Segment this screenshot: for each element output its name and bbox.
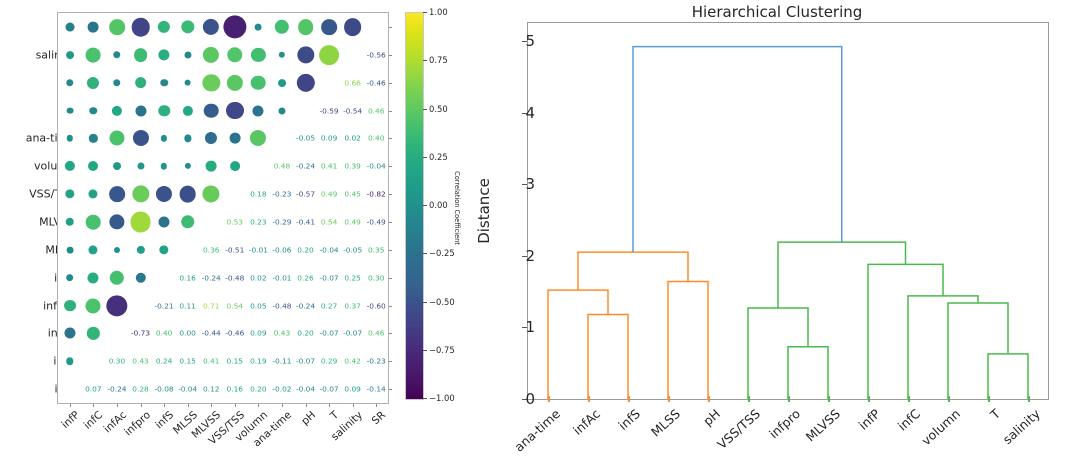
correlation-value-label: -0.14 [367,385,386,394]
correlation-value-label: -0.46 [367,78,386,87]
x-axis-tick [353,404,354,407]
correlation-value-label: -0.06 [272,245,291,254]
colorbar-tick [423,253,427,254]
x-axis-tick [329,404,330,407]
x-axis-tick-label: infpro [122,409,153,438]
x-axis-tick [211,404,212,407]
correlation-value-label: 0.19 [250,357,266,366]
x-axis-tick [164,404,165,407]
y-axis-tick [389,306,392,307]
correlation-bubble [66,79,73,86]
correlation-bubble [203,186,220,203]
correlation-bubble [203,74,220,91]
colorbar-tick-label: 0.50 [429,104,448,114]
correlation-value-label: -0.07 [343,329,362,338]
correlation-bubble [156,186,172,202]
dendrogram-leaf-tick [1028,396,1030,402]
correlation-value-label: 0.05 [250,301,266,310]
correlation-value-label: -0.24 [296,162,315,171]
correlation-value-label: 0.02 [344,134,360,143]
correlation-bubble [66,246,73,253]
correlation-value-label: -0.02 [272,385,291,394]
correlation-value-label: -0.48 [225,273,244,282]
dendrogram-leaf-label: salinity [1000,406,1043,447]
dendrogram-y-tick-label: 1 [525,318,535,336]
y-axis-tick [389,278,392,279]
correlation-value-label: 0.53 [227,217,243,226]
colorbar-tick-label: −1.00 [429,393,455,403]
dendrogram-leaf-tick [828,396,830,402]
x-axis-tick [70,404,71,407]
correlation-value-label: 0.36 [203,245,219,254]
dendrogram-link [748,308,808,399]
correlation-bubble [229,133,240,144]
correlation-bubble [181,20,194,33]
x-axis-tick-label: T [328,409,341,422]
dendrogram-leaf-tick [988,396,990,402]
y-axis-tick [389,166,392,167]
dendrogram-leaf-tick [868,396,870,402]
correlation-bubble [250,130,266,146]
correlation-value-label: -0.07 [320,385,339,394]
dendrogram-y-tick-label: 4 [525,104,535,122]
correlation-value-label: -0.01 [249,245,268,254]
dendrogram-link [668,282,708,399]
dendrogram-y-tick-label: 2 [525,247,535,265]
correlation-bubble [298,19,314,35]
correlation-value-label: 0.66 [344,78,360,87]
x-axis-tick [258,404,259,407]
correlation-value-label: 0.42 [344,357,360,366]
correlation-bubble [184,135,191,142]
y-axis-tick [389,250,392,251]
correlation-bubble [66,357,73,364]
correlation-bubble [183,105,193,115]
correlation-bubble [66,218,75,227]
dendrogram-panel: Hierarchical Clustering Distance 012345a… [470,0,1080,461]
correlation-bubble [255,24,262,31]
correlation-value-label: 0.49 [344,217,360,226]
correlation-value-label: 0.15 [179,357,195,366]
correlation-bubble [64,300,76,312]
correlation-value-label: 0.30 [368,273,384,282]
correlation-bubble [88,161,98,171]
correlation-bubble [227,47,242,62]
correlation-bubble [65,189,74,198]
correlation-bubble [137,163,144,170]
correlation-plot-area: -0.560.66-0.46-0.59-0.540.46-0.050.090.0… [58,13,388,403]
correlation-value-label: -0.29 [272,217,291,226]
correlation-bubble [275,20,289,34]
correlation-bubble [158,21,170,33]
x-axis-tick [117,404,118,407]
dendrogram-leaf-label: infP [856,406,883,433]
dendrogram-leaf-tick [908,396,910,402]
dendrogram-links [528,23,1048,399]
x-axis-tick [376,404,377,407]
correlation-bubble [87,327,99,339]
dendrogram-leaf-tick [948,396,950,402]
x-axis-tick-label: infP [59,409,82,431]
correlation-bubble [319,45,339,65]
correlation-bubble [132,185,149,202]
dendrogram-leaf-tick [708,396,710,402]
correlation-value-label: 0.00 [179,329,195,338]
dendrogram-link [633,47,842,253]
correlation-value-label: -0.59 [320,106,339,115]
correlation-bubble [136,246,144,254]
correlation-bubble [159,216,170,227]
correlation-value-label: 0.16 [227,385,243,394]
colorbar-tick-label: −0.25 [429,248,455,258]
correlation-value-label: -0.07 [320,329,339,338]
correlation-value-label: -0.24 [202,273,221,282]
correlation-value-label: 0.54 [227,301,243,310]
correlation-bubble [87,77,99,89]
correlation-bubble [184,51,191,58]
correlation-bubble [205,132,217,144]
colorbar-tick-label: 0.75 [429,55,448,65]
y-axis-tick [389,27,392,28]
dendrogram-leaf-label: T [987,406,1003,422]
correlation-bubble [278,107,285,114]
correlation-bubble [67,135,73,141]
y-axis-tick [389,194,392,195]
y-axis-tick [389,361,392,362]
correlation-value-label: -0.49 [367,217,386,226]
dendrogram-y-tick-label: 0 [525,390,535,408]
correlation-bubble [90,107,97,114]
dendrogram-leaf-label: VSS/TSS [714,406,763,452]
correlation-bubble [86,215,101,230]
colorbar-tick-label: −0.50 [429,297,455,307]
correlation-value-label: 0.23 [250,217,266,226]
correlation-bubble [65,22,74,31]
dendrogram-link [588,314,628,399]
dendrogram-link [578,252,688,290]
colorbar-label: Correlation Coefficient [453,171,461,245]
colorbar-tick [423,302,427,303]
correlation-bubble [226,102,244,120]
colorbar-tick [423,109,427,110]
correlation-bubble [251,75,266,90]
y-axis-tick [389,55,392,56]
correlation-value-label: -0.04 [367,162,386,171]
dendrogram-link [788,347,828,399]
correlation-value-label: -0.73 [131,329,150,338]
correlation-bubble [64,328,75,339]
correlation-bubble [206,161,217,172]
correlation-matrix-panel: SRsalinityTpHana-timevolumnVSS/TSSMLVSSM… [0,0,470,461]
correlation-bubble [278,79,286,87]
x-axis-tick-label: pH [299,409,318,428]
correlation-value-label: -0.48 [272,301,291,310]
correlation-value-label: -0.07 [320,273,339,282]
dendrogram-leaf-label: pH [700,406,723,429]
correlation-value-label: -0.57 [296,190,315,199]
y-axis-tick [389,222,392,223]
correlation-value-label: -0.23 [272,190,291,199]
y-axis-tick [389,111,392,112]
dendrogram-y-axis-label: Distance [475,178,493,244]
correlation-value-label: 0.48 [274,162,290,171]
correlation-value-label: 0.11 [179,301,195,310]
dendrogram-link [778,242,906,308]
y-axis-tick [389,83,392,84]
correlation-bubble [297,46,314,63]
correlation-bubble [86,298,101,313]
dendrogram-leaf-tick [628,396,630,402]
correlation-value-label: 0.30 [109,357,125,366]
correlation-value-label: 0.09 [250,329,266,338]
correlation-bubble [89,134,97,142]
correlation-bubble [66,51,74,59]
colorbar: Correlation Coefficient 1.000.750.500.25… [405,12,465,404]
correlation-value-label: -0.23 [367,357,386,366]
correlation-value-label: 0.29 [321,357,337,366]
correlation-value-label: -0.56 [367,50,386,59]
colorbar-tick [423,398,427,399]
correlation-bubble [109,19,125,35]
correlation-value-label: 0.46 [368,329,384,338]
correlation-bubble [230,161,240,171]
x-axis-tick [141,404,142,407]
correlation-value-label: -0.82 [367,190,386,199]
correlation-bubble [134,48,148,62]
dendrogram-leaf-label: MLVSS [803,406,843,444]
correlation-bubble [158,105,169,116]
dendrogram-link [988,354,1028,399]
correlation-value-label: -0.24 [107,385,126,394]
correlation-bubble [203,19,219,35]
colorbar-tick [423,205,427,206]
correlation-axes: -0.560.66-0.46-0.59-0.540.46-0.050.090.0… [57,12,389,404]
correlation-value-label: 0.41 [203,357,219,366]
correlation-bubble [227,75,243,91]
y-axis-tick [389,138,392,139]
correlation-value-label: -0.04 [296,385,315,394]
dendrogram-leaf-label: infpro [766,406,803,441]
correlation-value-label: 0.35 [368,245,384,254]
correlation-bubble [203,47,219,63]
correlation-value-label: 0.25 [344,273,360,282]
correlation-bubble [88,272,99,283]
correlation-bubble [223,15,246,38]
dendrogram-leaf-label: infC [895,406,923,434]
correlation-bubble [89,245,98,254]
correlation-value-label: -0.46 [225,329,244,338]
correlation-value-label: 0.20 [297,329,313,338]
correlation-value-label: 0.16 [179,273,195,282]
correlation-value-label: 0.20 [250,385,266,394]
correlation-bubble [321,19,337,35]
correlation-value-label: -0.01 [272,273,291,282]
correlation-value-label: 0.39 [344,162,360,171]
correlation-bubble [109,131,124,146]
correlation-bubble [161,135,167,141]
correlation-bubble [113,79,120,86]
correlation-bubble [253,105,264,116]
dendrogram-leaf-label: infS [615,406,643,433]
correlation-value-label: 0.40 [368,134,384,143]
correlation-bubble [179,186,196,203]
colorbar-tick-label: 1.00 [429,7,448,17]
correlation-bubble [181,215,195,229]
correlation-bubble [86,47,101,62]
correlation-bubble [251,48,265,62]
correlation-bubble [344,18,362,36]
correlation-value-label: -0.05 [343,245,362,254]
dendrogram-link [868,264,943,399]
dendrogram-title: Hierarchical Clustering [692,3,863,21]
correlation-value-label: -0.60 [367,301,386,310]
dendrogram-link [948,303,1008,399]
correlation-value-label: 0.41 [321,162,337,171]
dendrogram-link [548,290,608,399]
correlation-value-label: 0.26 [297,273,313,282]
correlation-value-label: 0.40 [156,329,172,338]
correlation-bubble [296,73,314,91]
correlation-value-label: -0.24 [296,301,315,310]
correlation-value-label: 0.02 [250,273,266,282]
correlation-value-label: -0.11 [272,357,291,366]
correlation-value-label: -0.44 [202,329,221,338]
correlation-bubble [161,163,167,169]
correlation-bubble [66,274,74,282]
correlation-value-label: 0.54 [321,217,337,226]
x-axis-tick [235,404,236,407]
correlation-bubble [135,272,145,282]
correlation-value-label: 0.15 [227,357,243,366]
correlation-bubble [88,22,99,33]
dendrogram-leaf-tick [788,396,790,402]
x-axis-tick [188,404,189,407]
correlation-bubble [158,49,169,60]
correlation-value-label: -0.51 [225,245,244,254]
dendrogram-leaf-label: MLSS [648,406,683,440]
dendrogram-leaf-label: infAc [570,406,603,438]
correlation-value-label: 0.18 [250,190,266,199]
dendrogram-leaf-label: volumn [918,406,963,448]
dendrogram-y-tick-label: 5 [525,32,535,50]
correlation-bubble [160,79,167,86]
correlation-bubble [112,105,122,115]
colorbar-tick-label: 0.25 [429,152,448,162]
correlation-bubble [132,130,148,146]
colorbar-tick [423,60,427,61]
y-axis-tick [389,333,392,334]
correlation-value-label: 0.20 [297,245,313,254]
colorbar-gradient [405,12,424,400]
correlation-value-label: 0.28 [132,385,148,394]
correlation-value-label: -0.08 [155,385,174,394]
correlation-value-label: -0.05 [296,134,315,143]
dendrogram-axes [527,22,1049,400]
figure-canvas: SRsalinityTpHana-timevolumnVSS/TSSMLVSSM… [0,0,1080,461]
correlation-bubble [109,186,125,202]
correlation-value-label: -0.54 [343,106,362,115]
dendrogram-leaf-tick [588,396,590,402]
correlation-value-label: -0.21 [155,301,174,310]
correlation-value-label: 0.43 [132,357,148,366]
correlation-value-label: 0.37 [344,301,360,310]
correlation-bubble [279,52,285,58]
correlation-value-label: -0.04 [320,245,339,254]
dendrogram-leaf-tick [668,396,670,402]
correlation-bubble [66,107,73,114]
x-axis-tick-label: infC [82,409,105,432]
correlation-value-label: 0.46 [368,106,384,115]
correlation-value-label: -0.41 [296,217,315,226]
colorbar-tick [423,157,427,158]
correlation-value-label: 0.09 [344,385,360,394]
correlation-bubble [131,18,150,37]
correlation-value-label: -0.04 [178,385,197,394]
correlation-bubble [135,77,147,89]
correlation-value-label: 0.43 [274,329,290,338]
correlation-bubble [110,270,124,284]
correlation-bubble [204,103,219,118]
x-axis-tick-label: SR [370,409,388,427]
correlation-value-label: 0.24 [156,357,172,366]
correlation-bubble [106,295,127,316]
x-axis-tick [93,404,94,407]
correlation-bubble [109,214,124,229]
correlation-bubble [135,105,146,116]
dendrogram-link [908,296,978,399]
correlation-bubble [184,79,191,86]
correlation-bubble [65,161,75,171]
correlation-value-label: 0.71 [203,301,219,310]
correlation-value-label: 0.07 [85,385,101,394]
dendrogram-leaf-tick [548,396,550,402]
correlation-value-label: 0.45 [344,190,360,199]
dendrogram-y-tick-label: 3 [525,175,535,193]
correlation-value-label: 0.27 [321,301,337,310]
correlation-value-label: 0.12 [203,385,219,394]
correlation-bubble [130,211,151,232]
dendrogram-leaf-label: ana-time [511,406,563,455]
dendrogram-leaf-tick [748,396,750,402]
correlation-value-label: -0.07 [296,357,315,366]
correlation-bubble [185,163,191,169]
colorbar-tick [423,350,427,351]
x-axis-tick [306,404,307,407]
correlation-bubble [159,245,168,254]
correlation-value-label: 0.09 [321,134,337,143]
correlation-bubble [89,189,98,198]
correlation-bubble [113,162,121,170]
correlation-value-label: 0.49 [321,190,337,199]
correlation-bubble [113,51,120,58]
x-axis-tick [282,404,283,407]
correlation-bubble [114,247,120,253]
colorbar-tick [423,12,427,13]
colorbar-tick-label: 0.00 [429,200,448,210]
colorbar-tick-label: −0.75 [429,345,455,355]
y-axis-tick [389,389,392,390]
